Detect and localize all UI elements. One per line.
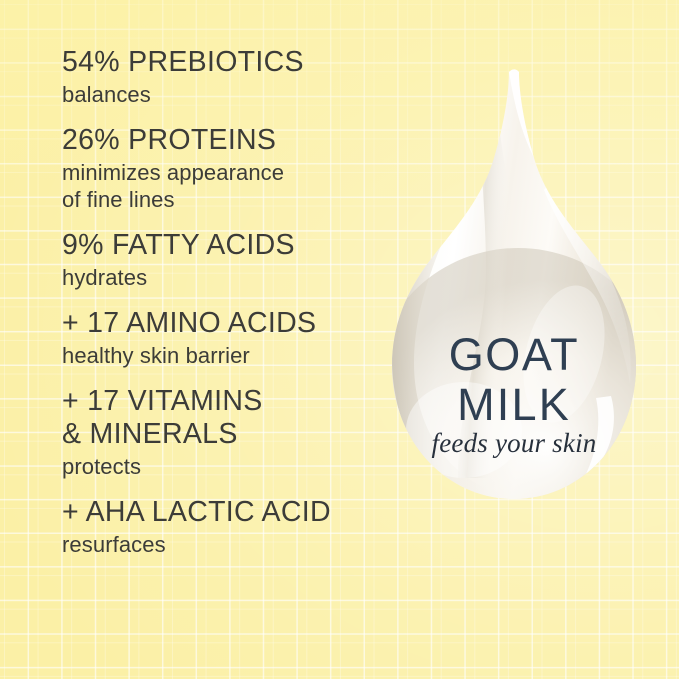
ingredient-heading: + 17 VITAMINS & MINERALS	[62, 385, 392, 451]
list-item: 26% PROTEINS minimizes appearance of fin…	[62, 124, 392, 213]
ingredient-heading: 54% PREBIOTICS	[62, 46, 392, 79]
ingredient-benefit: balances	[62, 81, 392, 108]
list-item: 54% PREBIOTICS balances	[62, 46, 392, 108]
ingredient-benefit: healthy skin barrier	[62, 342, 392, 369]
list-item: + 17 AMINO ACIDS healthy skin barrier	[62, 307, 392, 369]
ingredient-benefit: minimizes appearance of fine lines	[62, 159, 392, 213]
list-item: + 17 VITAMINS & MINERALS protects	[62, 385, 392, 480]
ingredient-heading: + AHA LACTIC ACID	[62, 496, 392, 529]
list-item: + AHA LACTIC ACID resurfaces	[62, 496, 392, 558]
ingredient-heading: + 17 AMINO ACIDS	[62, 307, 392, 340]
ingredient-infographic: GOAT MILK feeds your skin 54% PREBIOTICS…	[0, 0, 679, 679]
ingredient-heading: 9% FATTY ACIDS	[62, 229, 392, 262]
list-item: 9% FATTY ACIDS hydrates	[62, 229, 392, 291]
ingredient-benefit: resurfaces	[62, 531, 392, 558]
ingredient-heading: 26% PROTEINS	[62, 124, 392, 157]
ingredient-benefit: hydrates	[62, 264, 392, 291]
ingredient-list: 54% PREBIOTICS balances 26% PROTEINS min…	[62, 46, 392, 558]
ingredient-benefit: protects	[62, 453, 392, 480]
milk-droplet-graphic	[368, 58, 660, 558]
